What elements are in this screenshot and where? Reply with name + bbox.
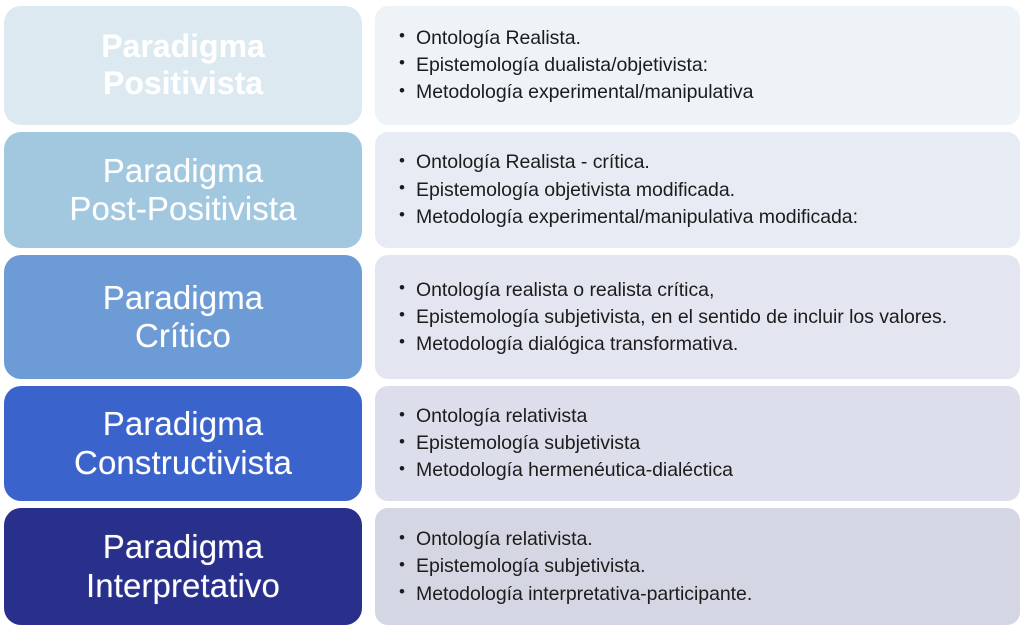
attribute-item: Metodología experimental/manipulativa <box>397 80 1006 105</box>
attribute-item: Epistemología subjetivista. <box>397 554 1006 579</box>
paradigm-label-box: Paradigma Interpretativo <box>4 508 362 625</box>
attribute-item: Epistemología dualista/objetivista: <box>397 53 1006 78</box>
attribute-item: Ontología Realista. <box>397 26 1006 51</box>
attribute-item: Ontología relativista. <box>397 527 1006 552</box>
attribute-item: Epistemología subjetivista <box>397 431 1006 456</box>
attribute-list: Ontología realista o realista crítica,Ep… <box>397 278 1006 357</box>
attribute-list: Ontología Realista.Epistemología dualist… <box>397 26 1006 105</box>
attribute-item: Epistemología subjetivista, en el sentid… <box>397 305 1006 330</box>
attribute-item: Metodología dialógica transformativa. <box>397 332 1006 357</box>
paradigm-row: Paradigma InterpretativoOntología relati… <box>4 508 1020 625</box>
paradigm-label: Paradigma Constructivista <box>74 405 292 482</box>
paradigm-row: Paradigma PositivistaOntología Realista.… <box>4 6 1020 125</box>
paradigm-attributes-panel: Ontología relativista.Epistemología subj… <box>375 508 1020 625</box>
paradigm-row: Paradigma CríticoOntología realista o re… <box>4 255 1020 379</box>
paradigms-diagram: Paradigma PositivistaOntología Realista.… <box>0 0 1024 633</box>
paradigm-row: Paradigma Post-PositivistaOntología Real… <box>4 132 1020 249</box>
paradigm-label-box: Paradigma Constructivista <box>4 386 362 502</box>
attribute-list: Ontología relativistaEpistemología subje… <box>397 404 1006 483</box>
attribute-item: Ontología Realista - crítica. <box>397 150 1006 175</box>
attribute-item: Metodología hermenéutica-dialéctica <box>397 458 1006 483</box>
attribute-item: Metodología interpretativa-participante. <box>397 582 1006 607</box>
attribute-item: Metodología experimental/manipulativa mo… <box>397 205 1006 230</box>
paradigm-label: Paradigma Positivista <box>101 28 265 102</box>
paradigm-attributes-panel: Ontología Realista - crítica.Epistemolog… <box>375 132 1020 249</box>
paradigm-label: Paradigma Interpretativo <box>86 528 280 605</box>
paradigm-label: Paradigma Post-Positivista <box>69 152 296 229</box>
paradigm-label-box: Paradigma Post-Positivista <box>4 132 362 249</box>
paradigm-label-box: Paradigma Positivista <box>4 6 362 125</box>
paradigm-attributes-panel: Ontología relativistaEpistemología subje… <box>375 386 1020 502</box>
paradigm-row: Paradigma ConstructivistaOntología relat… <box>4 386 1020 502</box>
attribute-list: Ontología relativista.Epistemología subj… <box>397 527 1006 606</box>
paradigm-label-box: Paradigma Crítico <box>4 255 362 379</box>
paradigm-attributes-panel: Ontología realista o realista crítica,Ep… <box>375 255 1020 379</box>
attribute-item: Epistemología objetivista modificada. <box>397 178 1006 203</box>
attribute-list: Ontología Realista - crítica.Epistemolog… <box>397 150 1006 229</box>
attribute-item: Ontología realista o realista crítica, <box>397 278 1006 303</box>
paradigm-attributes-panel: Ontología Realista.Epistemología dualist… <box>375 6 1020 125</box>
attribute-item: Ontología relativista <box>397 404 1006 429</box>
paradigm-label: Paradigma Crítico <box>103 279 264 356</box>
